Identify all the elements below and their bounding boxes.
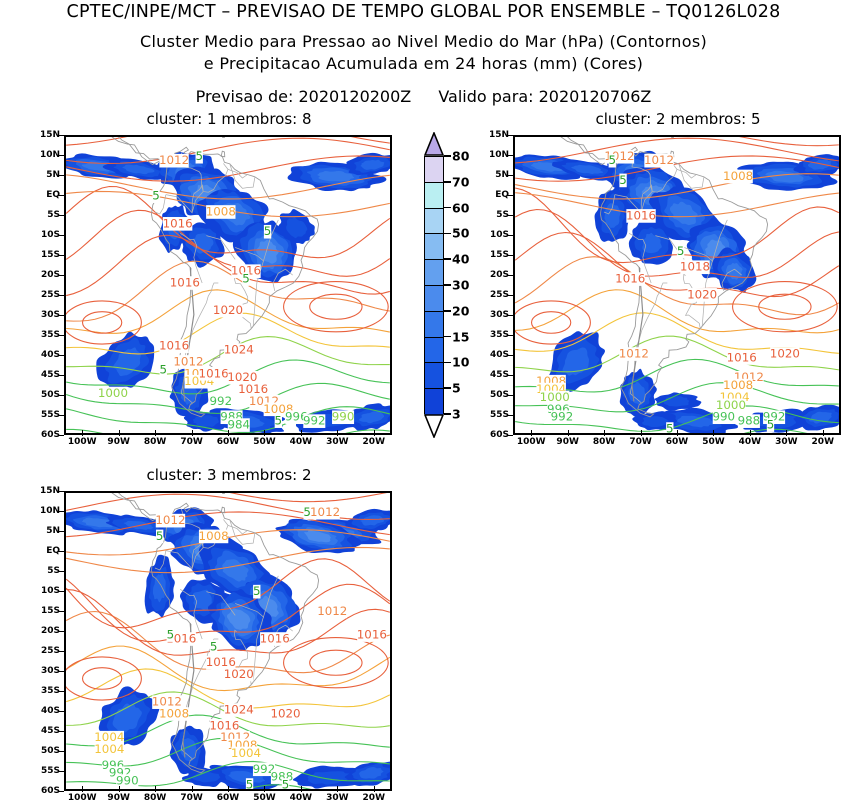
svg-text:5: 5: [160, 362, 168, 376]
x-axis-tick: [786, 430, 787, 436]
y-axis-tick-label: 30S: [28, 310, 60, 320]
y-axis-tick-label: 10S: [28, 586, 60, 596]
colorbar-tick-label: 10: [452, 355, 469, 370]
y-axis-tick-label: 35S: [28, 330, 60, 340]
y-axis-tick-label: 55S: [28, 410, 60, 420]
colorbar-tick-label: 15: [452, 329, 469, 344]
svg-text:1012: 1012: [159, 153, 189, 167]
x-axis-tick: [301, 786, 302, 792]
svg-text:1020: 1020: [687, 287, 717, 301]
colorbar-band: [425, 183, 443, 209]
svg-text:5: 5: [210, 639, 218, 653]
y-axis-tick: [58, 175, 64, 176]
svg-text:992: 992: [303, 414, 326, 428]
x-axis-tick: [337, 430, 338, 436]
svg-text:1016: 1016: [626, 208, 656, 222]
x-axis-tick-label: 80W: [593, 437, 615, 447]
y-axis-tick: [58, 195, 64, 196]
y-axis-tick: [58, 531, 64, 532]
svg-text:1020: 1020: [224, 667, 254, 681]
y-axis-tick-label: 30S: [28, 666, 60, 676]
svg-text:5: 5: [275, 414, 283, 428]
x-axis-tick-label: 100W: [68, 793, 97, 803]
x-axis-tick-label: 60W: [666, 437, 688, 447]
y-axis-tick: [58, 651, 64, 652]
svg-text:5: 5: [152, 189, 160, 203]
svg-text:5: 5: [609, 153, 617, 167]
colorbar-tick-label: 60: [452, 200, 469, 215]
y-axis-tick: [58, 491, 64, 492]
y-axis-tick: [507, 355, 513, 356]
svg-text:1016: 1016: [163, 216, 193, 230]
y-axis-tick: [507, 175, 513, 176]
y-axis-tick: [58, 731, 64, 732]
y-axis-tick-label: 40S: [28, 706, 60, 716]
y-axis-tick: [58, 355, 64, 356]
precipitation-blob: [345, 762, 390, 786]
x-axis-tick: [192, 430, 193, 436]
svg-text:992: 992: [210, 394, 233, 408]
svg-text:1008: 1008: [206, 204, 236, 218]
map-canvas: 1012100810161016101610201024101610121008…: [66, 137, 390, 433]
y-axis-tick: [58, 711, 64, 712]
y-axis-tick: [58, 215, 64, 216]
y-axis-tick: [507, 195, 513, 196]
svg-text:1024: 1024: [224, 343, 254, 357]
y-axis-tick-label: 60S: [28, 786, 60, 796]
map-panel-cluster-2[interactable]: 1012101210081016101610181020102010121016…: [477, 129, 845, 455]
colorbar-tick: [444, 207, 451, 209]
x-axis-tick: [119, 786, 120, 792]
svg-text:5: 5: [242, 272, 250, 286]
y-axis-tick: [58, 315, 64, 316]
y-axis-tick: [507, 395, 513, 396]
colorbar-band: [425, 209, 443, 235]
colorbar-tick: [444, 310, 451, 312]
y-axis-tick: [58, 771, 64, 772]
subtitle-line-1: Cluster Medio para Pressao ao Nivel Medi…: [0, 32, 847, 51]
x-axis-tick: [155, 786, 156, 792]
y-axis-tick-label: 25S: [28, 290, 60, 300]
colorbar-band: [425, 338, 443, 364]
map-frame: 1012101210081016101610181020102010121016…: [513, 135, 841, 435]
y-axis-tick: [58, 255, 64, 256]
y-axis-tick-label: 15N: [28, 486, 60, 496]
y-axis-tick: [507, 335, 513, 336]
y-axis-tick: [507, 415, 513, 416]
svg-text:5: 5: [666, 422, 674, 433]
x-axis-tick: [155, 430, 156, 436]
map-canvas: 1012101210085101210161016101610161020102…: [66, 493, 390, 789]
x-axis-tick: [119, 430, 120, 436]
y-axis-tick-label: 15S: [28, 250, 60, 260]
y-axis-tick-label: 20S: [28, 626, 60, 636]
svg-text:5: 5: [677, 244, 685, 258]
x-axis-tick-label: 50W: [253, 793, 275, 803]
y-axis-tick: [58, 571, 64, 572]
y-axis-tick: [58, 631, 64, 632]
x-axis-tick: [192, 786, 193, 792]
svg-text:1008: 1008: [723, 169, 753, 183]
x-axis-tick: [82, 786, 83, 792]
y-axis-tick: [507, 315, 513, 316]
x-axis-tick: [82, 430, 83, 436]
x-axis-tick-label: 80W: [144, 793, 166, 803]
x-axis-tick: [750, 430, 751, 436]
x-axis-tick-label: 50W: [702, 437, 724, 447]
x-axis-tick-label: 30W: [775, 437, 797, 447]
x-axis-tick-label: 60W: [217, 437, 239, 447]
y-axis-tick: [58, 135, 64, 136]
x-axis-tick-label: 20W: [812, 437, 834, 447]
svg-text:5: 5: [156, 529, 164, 543]
y-axis-tick: [507, 275, 513, 276]
y-axis-tick-label: 20S: [28, 270, 60, 280]
y-axis-tick-label: 10N: [28, 150, 60, 160]
y-axis-tick-label: 50S: [28, 390, 60, 400]
x-axis-tick-label: 30W: [326, 793, 348, 803]
colorbar-under-arrow: [424, 414, 444, 438]
svg-text:1016: 1016: [615, 272, 645, 286]
y-axis-tick-label: 40S: [28, 350, 60, 360]
y-axis-tick: [507, 215, 513, 216]
x-axis-tick-label: 40W: [739, 437, 761, 447]
x-axis-tick: [823, 430, 824, 436]
x-axis-tick: [301, 430, 302, 436]
svg-text:1018: 1018: [680, 260, 710, 274]
y-axis-tick-label: 15S: [28, 606, 60, 616]
svg-text:988: 988: [738, 414, 761, 428]
precipitation-colorbar: 80706050403020151053: [415, 132, 493, 437]
panel-title-cluster-3: cluster: 3 membros: 2: [64, 466, 394, 484]
y-axis-tick: [58, 375, 64, 376]
forecast-from-label: Previsao de: 2020120200Z: [196, 87, 412, 106]
y-axis-tick-label: EQ: [28, 190, 60, 200]
y-axis-tick-label: 55S: [28, 766, 60, 776]
forecast-time-line: Previsao de: 2020120200Z Valido para: 20…: [0, 87, 847, 106]
y-axis-tick-label: 10S: [28, 230, 60, 240]
y-axis-tick: [507, 235, 513, 236]
svg-text:5: 5: [282, 778, 290, 789]
x-axis-tick: [337, 786, 338, 792]
svg-text:1016: 1016: [727, 351, 757, 365]
precipitation-blob: [145, 555, 175, 618]
x-axis-tick-label: 20W: [363, 793, 385, 803]
y-axis-tick-label: 25S: [28, 646, 60, 656]
colorbar-tick-label: 5: [452, 381, 461, 396]
colorbar-tick: [444, 336, 451, 338]
colorbar-tick-label: 40: [452, 252, 469, 267]
x-axis-tick-label: 100W: [68, 437, 97, 447]
svg-text:1012: 1012: [644, 153, 674, 167]
x-axis-tick-label: 70W: [629, 437, 651, 447]
y-axis-tick-label: 45S: [28, 726, 60, 736]
panel-title-cluster-1: cluster: 1 membros: 8: [64, 110, 394, 128]
panel-title-cluster-2: cluster: 2 membros: 5: [513, 110, 843, 128]
y-axis-tick: [507, 295, 513, 296]
colorbar-tick: [444, 413, 451, 415]
colorbar-tick: [444, 233, 451, 235]
y-axis-tick: [58, 611, 64, 612]
colorbar-tick: [444, 181, 451, 183]
x-axis-tick-label: 90W: [107, 793, 129, 803]
y-axis-tick-label: 5N: [28, 526, 60, 536]
y-axis-tick: [58, 415, 64, 416]
svg-text:5: 5: [253, 584, 261, 598]
map-canvas: 1012101210081016101610181020102010121016…: [515, 137, 839, 433]
x-axis-tick: [531, 430, 532, 436]
y-axis-tick: [58, 395, 64, 396]
svg-text:5: 5: [767, 418, 775, 432]
svg-text:1012: 1012: [317, 604, 347, 618]
x-axis-tick: [713, 430, 714, 436]
svg-text:5: 5: [303, 505, 311, 519]
x-axis-tick: [374, 786, 375, 792]
y-axis-tick: [58, 751, 64, 752]
x-axis-tick: [641, 430, 642, 436]
colorbar-tick: [444, 258, 451, 260]
colorbar-band: [425, 157, 443, 183]
svg-text:1012: 1012: [310, 505, 340, 519]
svg-text:1016: 1016: [260, 632, 290, 646]
x-axis-tick-label: 70W: [180, 793, 202, 803]
subtitle-line-2: e Precipitacao Acumulada em 24 horas (mm…: [0, 54, 847, 73]
x-axis-tick: [228, 430, 229, 436]
y-axis-tick-label: 50S: [28, 746, 60, 756]
colorbar-over-arrow: [424, 132, 444, 156]
x-axis-tick-label: 100W: [517, 437, 546, 447]
colorbar-tick-label: 30: [452, 278, 469, 293]
x-axis-tick-label: 50W: [253, 437, 275, 447]
y-axis-tick: [507, 135, 513, 136]
colorbar-tick: [444, 284, 451, 286]
svg-text:990: 990: [332, 410, 355, 424]
svg-text:990: 990: [712, 410, 735, 424]
y-axis-tick: [507, 255, 513, 256]
x-axis-tick-label: 60W: [217, 793, 239, 803]
colorbar-tick-label: 20: [452, 303, 469, 318]
colorbar-band: [425, 312, 443, 338]
colorbar-band: [425, 286, 443, 312]
colorbar-tick: [444, 362, 451, 364]
y-axis-tick: [58, 551, 64, 552]
y-axis-tick: [58, 275, 64, 276]
x-axis-tick-label: 90W: [107, 437, 129, 447]
svg-text:5: 5: [195, 149, 203, 163]
svg-text:992: 992: [551, 410, 574, 424]
svg-text:1016: 1016: [357, 628, 387, 642]
y-axis-tick-label: 10N: [28, 506, 60, 516]
y-axis-tick: [58, 691, 64, 692]
map-frame: 1012101210085101210161016101610161020102…: [64, 491, 392, 791]
y-axis-tick: [507, 435, 513, 436]
x-axis-tick-label: 30W: [326, 437, 348, 447]
svg-text:1012: 1012: [619, 347, 649, 361]
x-axis-tick: [604, 430, 605, 436]
svg-text:1016: 1016: [199, 366, 229, 380]
colorbar-bands: [424, 156, 444, 414]
y-axis-tick: [58, 591, 64, 592]
x-axis-tick: [228, 786, 229, 792]
y-axis-tick: [58, 235, 64, 236]
x-axis-tick: [264, 430, 265, 436]
x-axis-tick-label: 20W: [363, 437, 385, 447]
x-axis-tick-label: 80W: [144, 437, 166, 447]
y-axis-tick: [58, 295, 64, 296]
y-axis-tick-label: 60S: [28, 430, 60, 440]
svg-text:1004: 1004: [94, 742, 124, 756]
x-axis-tick: [264, 786, 265, 792]
map-panel-cluster-1[interactable]: 1012100810161016101610201024101610121008…: [28, 129, 396, 455]
y-axis-tick: [507, 155, 513, 156]
map-frame: 1012100810161016101610201024101610121008…: [64, 135, 392, 435]
svg-text:1016: 1016: [159, 339, 189, 353]
svg-text:1000: 1000: [98, 386, 128, 400]
svg-text:1004: 1004: [231, 746, 261, 760]
colorbar-tick-label: 50: [452, 226, 469, 241]
y-axis-tick-label: EQ: [28, 546, 60, 556]
x-axis-tick-label: 40W: [290, 793, 312, 803]
y-axis-tick-label: 5N: [28, 170, 60, 180]
colorbar-band: [425, 260, 443, 286]
map-panel-cluster-3[interactable]: 1012101210085101210161016101610161020102…: [28, 485, 396, 811]
x-axis-tick-label: 90W: [556, 437, 578, 447]
y-axis-tick-label: 45S: [28, 370, 60, 380]
y-axis-tick: [58, 435, 64, 436]
y-axis-tick: [58, 335, 64, 336]
svg-text:5: 5: [264, 224, 272, 238]
colorbar-tick: [444, 155, 451, 157]
y-axis-tick: [58, 791, 64, 792]
y-axis-tick: [58, 155, 64, 156]
precipitation-blob: [96, 332, 154, 392]
svg-text:1008: 1008: [159, 707, 189, 721]
colorbar-tick-label: 70: [452, 174, 469, 189]
svg-text:1020: 1020: [770, 347, 800, 361]
svg-text:1024: 1024: [224, 703, 254, 717]
y-axis-tick: [507, 375, 513, 376]
svg-text:1012: 1012: [155, 513, 185, 527]
svg-text:5: 5: [167, 628, 175, 642]
y-axis-tick-label: 5S: [28, 566, 60, 576]
colorbar-tick-label: 3: [452, 407, 461, 422]
y-axis-tick: [58, 671, 64, 672]
svg-text:1020: 1020: [213, 303, 243, 317]
x-axis-tick: [677, 430, 678, 436]
y-axis-tick-label: 35S: [28, 686, 60, 696]
colorbar-band: [425, 363, 443, 389]
svg-text:1016: 1016: [170, 276, 200, 290]
svg-text:1020: 1020: [270, 707, 300, 721]
svg-text:5: 5: [246, 778, 254, 789]
x-axis-tick: [374, 430, 375, 436]
x-axis-tick: [568, 430, 569, 436]
y-axis-tick-label: 15N: [28, 130, 60, 140]
svg-text:5: 5: [619, 173, 627, 187]
page-title: CPTEC/INPE/MCT – PREVISAO DE TEMPO GLOBA…: [0, 2, 847, 22]
y-axis-tick-label: 5S: [28, 210, 60, 220]
x-axis-tick-label: 40W: [290, 437, 312, 447]
x-axis-tick-label: 70W: [180, 437, 202, 447]
svg-text:984: 984: [227, 418, 250, 432]
colorbar-band: [425, 389, 443, 415]
svg-text:1008: 1008: [199, 529, 229, 543]
colorbar-tick-label: 80: [452, 149, 469, 164]
forecast-valid-label: Valido para: 2020120706Z: [438, 87, 651, 106]
colorbar-tick: [444, 387, 451, 389]
colorbar-band: [425, 234, 443, 260]
y-axis-tick: [58, 511, 64, 512]
